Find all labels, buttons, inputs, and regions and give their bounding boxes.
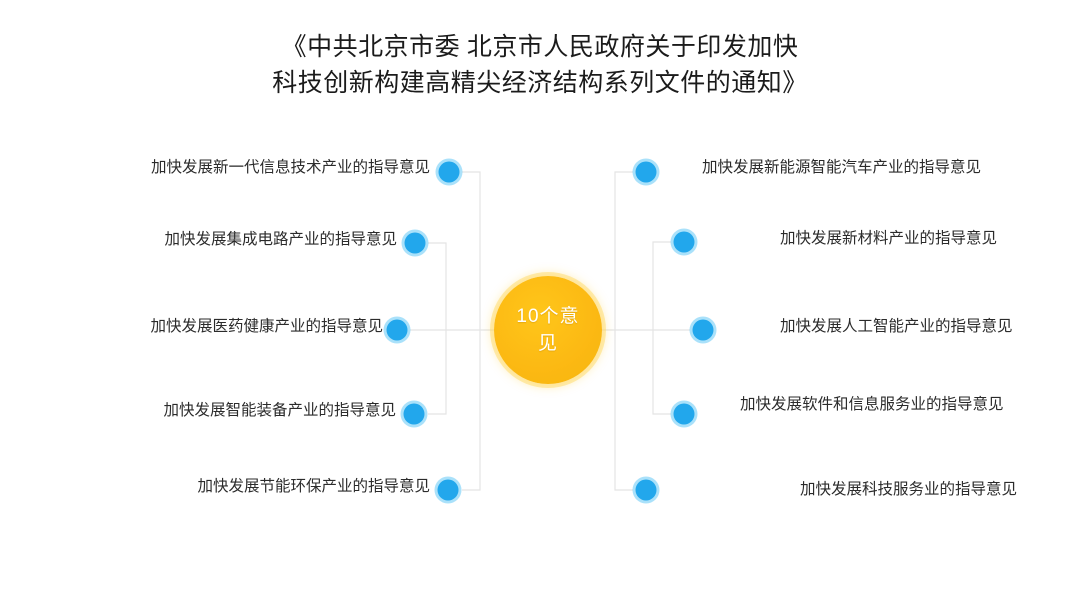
mind-map-diagram: 10个意见 加快发展新一代信息技术产业的指导意见加快发展集成电路产业的指导意见加… (0, 0, 1080, 608)
connector-right-inner (653, 242, 671, 414)
branch-node-left-5[interactable] (438, 480, 459, 501)
connector-right-outer (615, 172, 633, 490)
branch-label-right-2: 加快发展新材料产业的指导意见 (780, 228, 997, 250)
branch-node-left-3[interactable] (387, 320, 408, 341)
branch-label-right-3: 加快发展人工智能产业的指导意见 (780, 316, 1013, 338)
branch-node-left-2[interactable] (405, 233, 426, 254)
branch-node-right-3[interactable] (693, 320, 714, 341)
slide-canvas: 《中共北京市委 北京市人民政府关于印发加快 科技创新构建高精尖经济结构系列文件的… (0, 0, 1080, 608)
connector-left-inner (428, 243, 446, 414)
branch-node-right-1[interactable] (636, 162, 657, 183)
branch-label-left-5: 加快发展节能环保产业的指导意见 (197, 476, 430, 498)
branch-label-left-4: 加快发展智能装备产业的指导意见 (163, 400, 396, 422)
branch-node-right-5[interactable] (636, 480, 657, 501)
branch-label-right-4: 加快发展软件和信息服务业的指导意见 (740, 394, 1004, 416)
branch-node-left-1[interactable] (439, 162, 460, 183)
branch-label-right-1: 加快发展新能源智能汽车产业的指导意见 (702, 157, 981, 179)
center-node[interactable]: 10个意见 (494, 276, 602, 384)
branch-node-left-4[interactable] (404, 404, 425, 425)
branch-node-right-2[interactable] (674, 232, 695, 253)
connector-left-outer (462, 172, 480, 490)
branch-label-right-5: 加快发展科技服务业的指导意见 (800, 479, 1017, 501)
branch-label-left-3: 加快发展医药健康产业的指导意见 (150, 316, 383, 338)
branch-label-left-2: 加快发展集成电路产业的指导意见 (164, 229, 397, 251)
branch-label-left-1: 加快发展新一代信息技术产业的指导意见 (151, 157, 430, 179)
center-node-label: 10个意见 (511, 303, 585, 357)
branch-node-right-4[interactable] (674, 404, 695, 425)
